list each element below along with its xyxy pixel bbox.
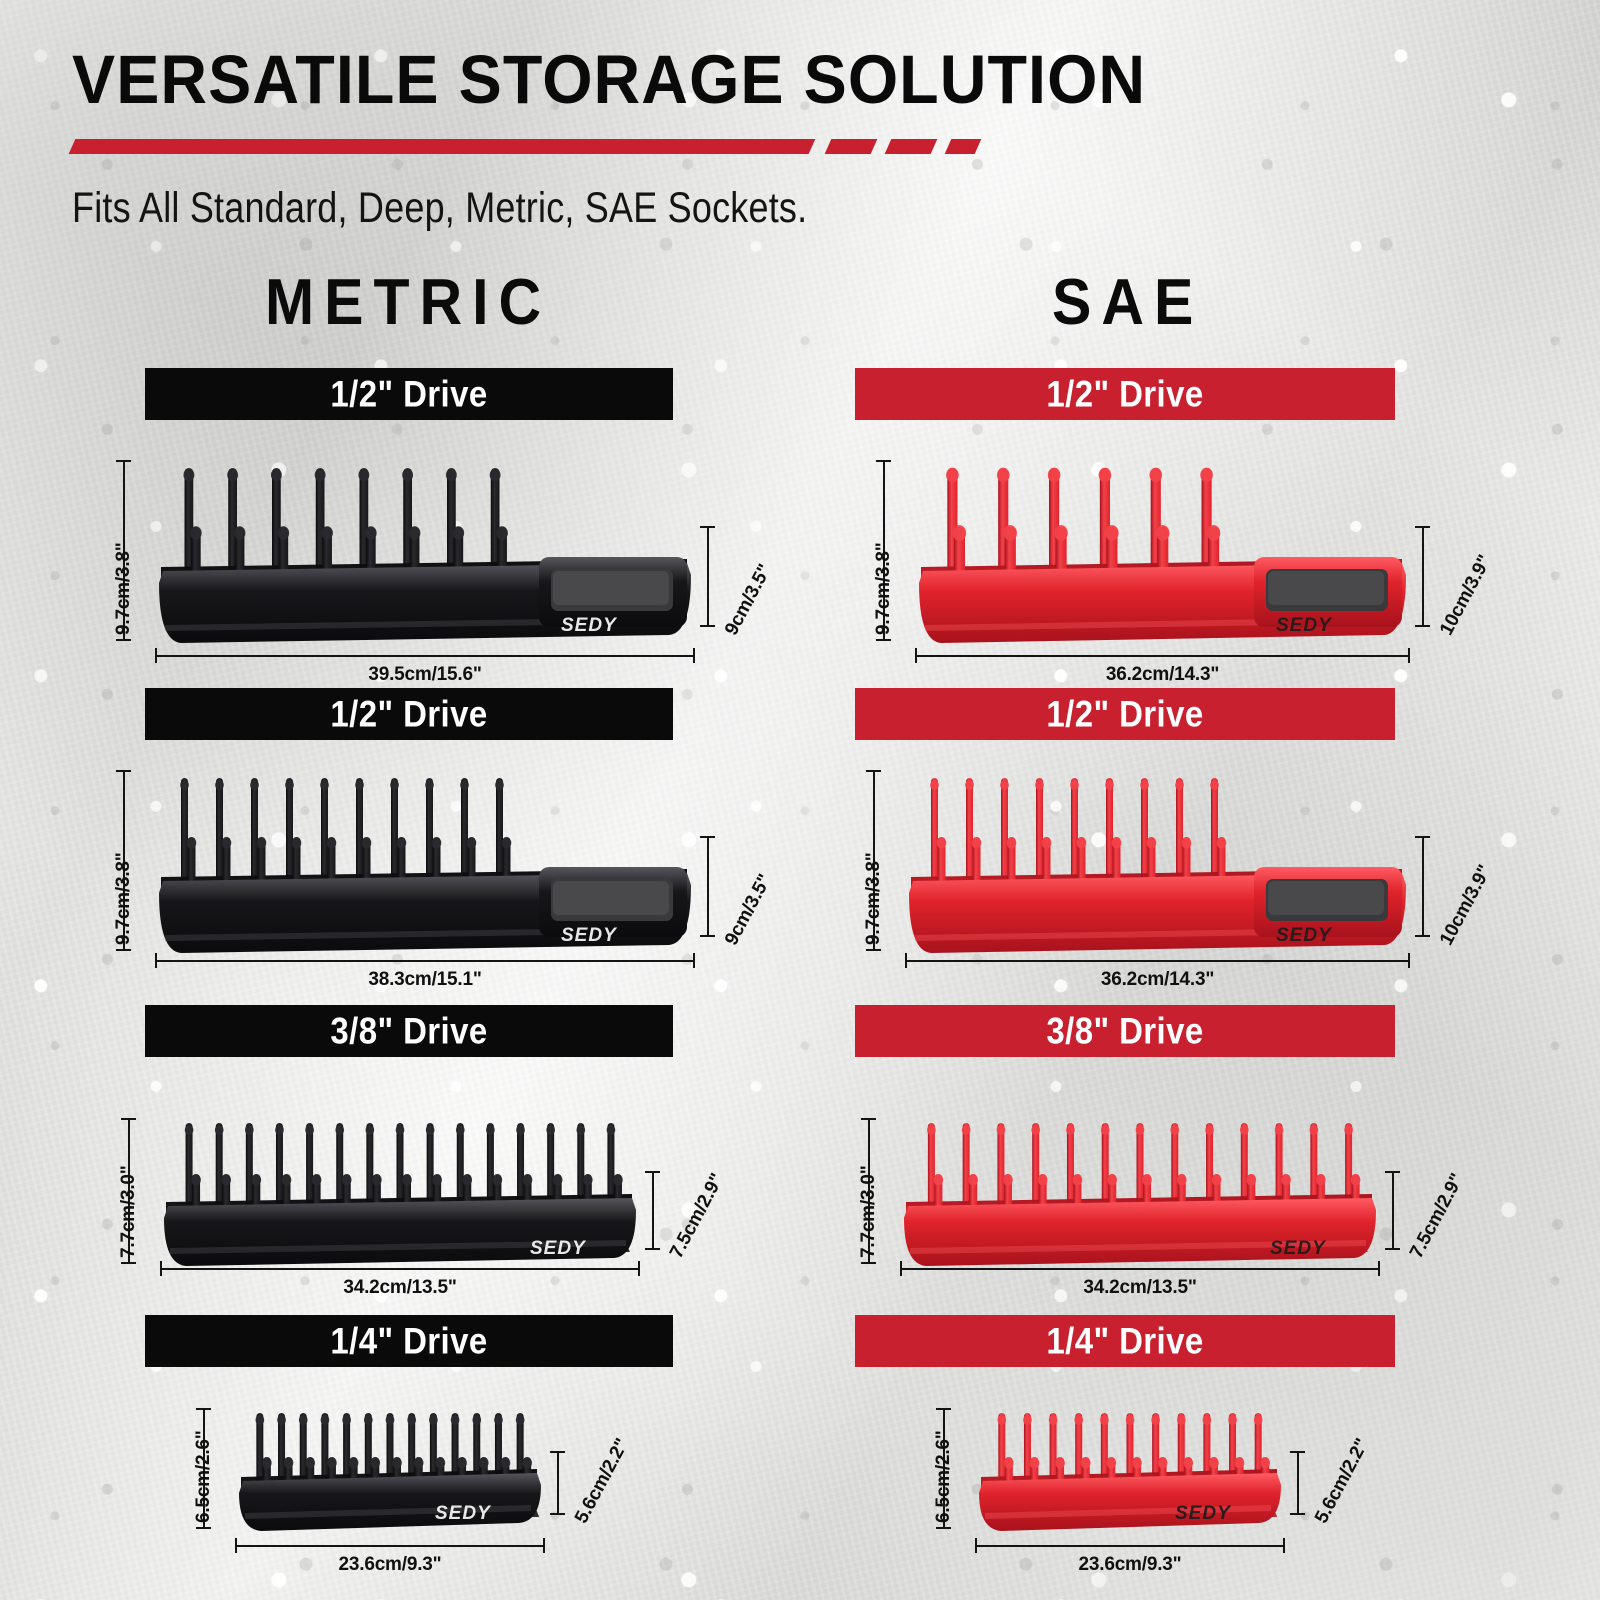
column-title-metric: METRIC bbox=[265, 265, 551, 340]
width-label-sae-2: 34.2cm/13.5" bbox=[900, 1277, 1380, 1299]
tray-metric-0: SEDY bbox=[155, 452, 695, 647]
depth-label-sae-0: 10cm/3.9" bbox=[1436, 552, 1497, 640]
depth-rule-metric-0 bbox=[707, 526, 709, 625]
svg-text:SEDY: SEDY bbox=[1270, 1238, 1327, 1259]
height-tick-bottom-metric-1 bbox=[116, 949, 131, 951]
page-subtitle: Fits All Standard, Deep, Metric, SAE Soc… bbox=[72, 183, 1532, 233]
tray-metric-2: SEDY bbox=[160, 1110, 640, 1270]
depth-rule-metric-1 bbox=[707, 836, 709, 935]
height-tick-top-sae-3 bbox=[936, 1408, 951, 1410]
depth-tick-top-metric-3 bbox=[550, 1451, 565, 1453]
width-tick-right-sae-0 bbox=[1408, 648, 1410, 663]
tray-sae-2: SEDY bbox=[900, 1110, 1380, 1270]
width-rule-sae-3 bbox=[975, 1545, 1285, 1547]
depth-rule-sae-0 bbox=[1422, 526, 1424, 625]
banner-label-sae-1: 1/2" Drive bbox=[1046, 693, 1203, 736]
depth-tick-bottom-sae-0 bbox=[1415, 625, 1430, 627]
height-label-sae-3: 6.5cm/2.6" bbox=[933, 1430, 955, 1523]
tray-metric-3: SEDY bbox=[235, 1400, 545, 1535]
tray-metric-1: SEDY bbox=[155, 762, 695, 957]
accent-rule bbox=[72, 133, 992, 159]
depth-tick-bottom-metric-1 bbox=[700, 935, 715, 937]
width-rule-metric-2 bbox=[160, 1268, 640, 1270]
width-tick-left-sae-0 bbox=[915, 648, 917, 663]
svg-text:SEDY: SEDY bbox=[1175, 1503, 1232, 1524]
width-label-sae-1: 36.2cm/14.3" bbox=[905, 969, 1410, 991]
width-tick-right-metric-2 bbox=[638, 1261, 640, 1276]
height-tick-bottom-sae-0 bbox=[876, 639, 891, 641]
svg-text:SEDY: SEDY bbox=[1276, 615, 1333, 636]
banner-label-sae-0: 1/2" Drive bbox=[1046, 373, 1203, 416]
tray-sae-0: SEDY bbox=[915, 452, 1410, 647]
width-tick-left-sae-1 bbox=[905, 953, 907, 968]
height-tick-bottom-metric-3 bbox=[196, 1527, 211, 1529]
width-tick-left-metric-0 bbox=[155, 648, 157, 663]
accent-rule-dash-1 bbox=[825, 139, 878, 154]
banner-sae-2: 3/8" Drive bbox=[855, 1005, 1395, 1057]
svg-text:SEDY: SEDY bbox=[435, 1503, 492, 1524]
svg-text:SEDY: SEDY bbox=[1276, 925, 1333, 946]
height-label-metric-3: 6.5cm/2.6" bbox=[193, 1430, 215, 1523]
height-tick-top-sae-0 bbox=[876, 460, 891, 462]
height-label-sae-0: 9.7cm/3.8" bbox=[873, 542, 895, 635]
banner-label-metric-1: 1/2" Drive bbox=[330, 693, 487, 736]
banner-metric-2: 3/8" Drive bbox=[145, 1005, 673, 1057]
depth-rule-sae-2 bbox=[1392, 1171, 1394, 1248]
depth-tick-top-sae-1 bbox=[1415, 836, 1430, 838]
accent-rule-dash-2 bbox=[885, 139, 938, 154]
depth-tick-bottom-sae-2 bbox=[1385, 1248, 1400, 1250]
depth-rule-metric-3 bbox=[557, 1451, 559, 1513]
svg-text:SEDY: SEDY bbox=[561, 615, 618, 636]
width-label-sae-3: 23.6cm/9.3" bbox=[975, 1554, 1285, 1576]
height-label-sae-2: 7.7cm/3.0" bbox=[858, 1165, 880, 1258]
depth-tick-top-sae-0 bbox=[1415, 526, 1430, 528]
depth-label-sae-1: 10cm/3.9" bbox=[1436, 862, 1497, 950]
depth-tick-top-metric-0 bbox=[700, 526, 715, 528]
height-tick-top-metric-2 bbox=[121, 1118, 136, 1120]
width-tick-right-metric-1 bbox=[693, 953, 695, 968]
width-tick-right-metric-0 bbox=[693, 648, 695, 663]
height-tick-top-metric-0 bbox=[116, 460, 131, 462]
width-rule-metric-0 bbox=[155, 655, 695, 657]
height-tick-bottom-metric-0 bbox=[116, 639, 131, 641]
depth-rule-sae-1 bbox=[1422, 836, 1424, 935]
height-label-sae-1: 9.7cm/3.8" bbox=[863, 852, 885, 945]
width-rule-metric-1 bbox=[155, 960, 695, 962]
width-tick-right-sae-1 bbox=[1408, 953, 1410, 968]
tray-sae-1: SEDY bbox=[905, 762, 1410, 957]
depth-tick-top-sae-2 bbox=[1385, 1171, 1400, 1173]
height-tick-top-metric-1 bbox=[116, 770, 131, 772]
banner-label-metric-2: 3/8" Drive bbox=[330, 1010, 487, 1053]
banner-metric-3: 1/4" Drive bbox=[145, 1315, 673, 1367]
column-title-sae: SAE bbox=[1052, 265, 1203, 340]
header-block: VERSATILE STORAGE SOLUTION Fits All Stan… bbox=[72, 46, 1532, 225]
width-label-metric-3: 23.6cm/9.3" bbox=[235, 1554, 545, 1576]
height-tick-bottom-sae-3 bbox=[936, 1527, 951, 1529]
depth-label-sae-2: 7.5cm/2.9" bbox=[1406, 1170, 1469, 1262]
width-label-metric-0: 39.5cm/15.6" bbox=[155, 664, 695, 686]
banner-label-metric-0: 1/2" Drive bbox=[330, 373, 487, 416]
width-rule-sae-0 bbox=[915, 655, 1410, 657]
width-tick-left-sae-2 bbox=[900, 1261, 902, 1276]
height-tick-bottom-metric-2 bbox=[121, 1262, 136, 1264]
width-tick-left-metric-3 bbox=[235, 1538, 237, 1553]
accent-rule-bar bbox=[69, 139, 816, 154]
width-rule-sae-2 bbox=[900, 1268, 1380, 1270]
banner-sae-1: 1/2" Drive bbox=[855, 688, 1395, 740]
accent-rule-dash-3 bbox=[945, 139, 982, 154]
depth-tick-top-sae-3 bbox=[1290, 1451, 1305, 1453]
depth-tick-bottom-sae-3 bbox=[1290, 1513, 1305, 1515]
depth-tick-bottom-sae-1 bbox=[1415, 935, 1430, 937]
banner-label-sae-2: 3/8" Drive bbox=[1046, 1010, 1203, 1053]
width-tick-right-metric-3 bbox=[543, 1538, 545, 1553]
width-tick-right-sae-2 bbox=[1378, 1261, 1380, 1276]
width-label-sae-0: 36.2cm/14.3" bbox=[915, 664, 1410, 686]
svg-text:SEDY: SEDY bbox=[561, 925, 618, 946]
banner-sae-0: 1/2" Drive bbox=[855, 368, 1395, 420]
width-rule-sae-1 bbox=[905, 960, 1410, 962]
infographic-page: VERSATILE STORAGE SOLUTION Fits All Stan… bbox=[0, 0, 1600, 1600]
tray-sae-3: SEDY bbox=[975, 1400, 1285, 1535]
width-tick-left-metric-1 bbox=[155, 953, 157, 968]
depth-tick-top-metric-1 bbox=[700, 836, 715, 838]
banner-label-sae-3: 1/4" Drive bbox=[1046, 1320, 1203, 1363]
width-rule-metric-3 bbox=[235, 1545, 545, 1547]
depth-label-metric-3: 5.6cm/2.2" bbox=[571, 1435, 634, 1527]
width-tick-left-sae-3 bbox=[975, 1538, 977, 1553]
depth-tick-top-metric-2 bbox=[645, 1171, 660, 1173]
depth-label-metric-2: 7.5cm/2.9" bbox=[666, 1170, 729, 1262]
banner-sae-3: 1/4" Drive bbox=[855, 1315, 1395, 1367]
banner-metric-0: 1/2" Drive bbox=[145, 368, 673, 420]
height-tick-bottom-sae-2 bbox=[861, 1262, 876, 1264]
depth-label-metric-1: 9cm/3.5" bbox=[721, 871, 777, 949]
height-tick-top-sae-1 bbox=[866, 770, 881, 772]
banner-label-metric-3: 1/4" Drive bbox=[330, 1320, 487, 1363]
depth-rule-metric-2 bbox=[652, 1171, 654, 1248]
depth-rule-sae-3 bbox=[1297, 1451, 1299, 1513]
width-label-metric-2: 34.2cm/13.5" bbox=[160, 1277, 640, 1299]
width-tick-right-sae-3 bbox=[1283, 1538, 1285, 1553]
height-tick-top-metric-3 bbox=[196, 1408, 211, 1410]
page-title: VERSATILE STORAGE SOLUTION bbox=[72, 46, 1600, 114]
height-label-metric-2: 7.7cm/3.0" bbox=[118, 1165, 140, 1258]
depth-label-sae-3: 5.6cm/2.2" bbox=[1311, 1435, 1374, 1527]
depth-tick-bottom-metric-3 bbox=[550, 1513, 565, 1515]
banner-metric-1: 1/2" Drive bbox=[145, 688, 673, 740]
depth-tick-bottom-metric-2 bbox=[645, 1248, 660, 1250]
width-label-metric-1: 38.3cm/15.1" bbox=[155, 969, 695, 991]
depth-label-metric-0: 9cm/3.5" bbox=[721, 561, 777, 639]
height-tick-bottom-sae-1 bbox=[866, 949, 881, 951]
height-tick-top-sae-2 bbox=[861, 1118, 876, 1120]
height-label-metric-1: 9.7cm/3.8" bbox=[113, 852, 135, 945]
height-label-metric-0: 9.7cm/3.8" bbox=[113, 542, 135, 635]
svg-text:SEDY: SEDY bbox=[530, 1238, 587, 1259]
width-tick-left-metric-2 bbox=[160, 1261, 162, 1276]
depth-tick-bottom-metric-0 bbox=[700, 625, 715, 627]
